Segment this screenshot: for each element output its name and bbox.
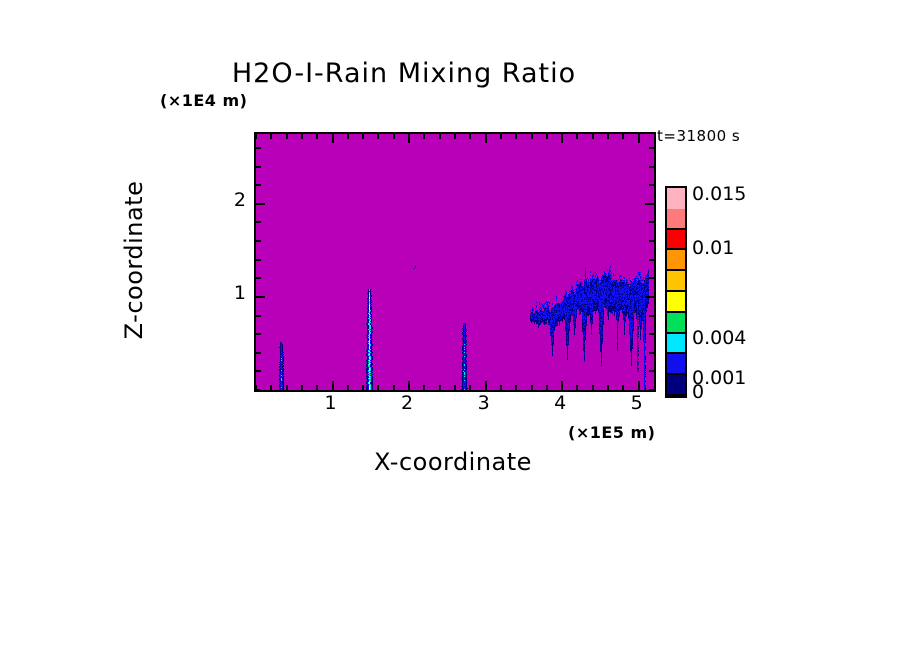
z-axis-tick xyxy=(256,352,261,354)
x-axis-tick xyxy=(301,134,303,139)
z-axis-tick-label: 1 xyxy=(206,282,246,304)
z-axis-tick xyxy=(256,389,261,391)
z-axis-tick xyxy=(256,370,261,372)
colorbar-band xyxy=(667,354,685,375)
x-axis-tick xyxy=(607,134,609,139)
z-axis-tick xyxy=(649,277,654,279)
colorbar-band xyxy=(667,334,685,355)
colorbar-tick-label: 0 xyxy=(692,381,704,403)
x-axis-tick xyxy=(469,134,471,139)
x-axis-tick xyxy=(576,134,578,139)
z-axis-tick xyxy=(649,184,654,186)
z-axis-tick xyxy=(645,203,654,205)
x-axis-tick xyxy=(638,381,640,390)
x-axis-tick xyxy=(454,134,456,139)
x-axis-tick xyxy=(301,385,303,390)
colorbar-tick-label: 0.004 xyxy=(692,327,746,349)
x-axis-tick xyxy=(332,134,334,143)
colorbar xyxy=(665,186,687,398)
z-axis-tick xyxy=(256,296,265,298)
x-axis-tick xyxy=(347,385,349,390)
x-axis-tick xyxy=(515,134,517,139)
z-axis-tick xyxy=(649,352,654,354)
x-axis-tick xyxy=(423,385,425,390)
z-axis-tick xyxy=(649,221,654,223)
x-axis-tick xyxy=(561,134,563,143)
x-axis-tick xyxy=(316,134,318,139)
x-axis-tick xyxy=(500,134,502,139)
z-axis-tick xyxy=(649,315,654,317)
z-axis-tick xyxy=(256,315,261,317)
x-axis-tick-label: 3 xyxy=(464,392,504,414)
z-axis-units-label: (×1E4 m) xyxy=(160,91,247,110)
x-axis-tick xyxy=(638,134,640,143)
x-axis-tick xyxy=(347,134,349,139)
z-axis-tick xyxy=(256,147,261,149)
x-axis-tick xyxy=(592,385,594,390)
z-axis-tick xyxy=(256,240,261,242)
x-axis-tick xyxy=(423,134,425,139)
x-axis-tick-label: 1 xyxy=(311,392,351,414)
x-axis-tick xyxy=(362,134,364,139)
x-axis-tick-label: 2 xyxy=(387,392,427,414)
x-axis-tick xyxy=(607,385,609,390)
z-axis-tick-label: 2 xyxy=(206,189,246,211)
x-axis-tick xyxy=(270,134,272,139)
x-axis-tick xyxy=(546,385,548,390)
x-axis-tick xyxy=(592,134,594,139)
x-axis-tick xyxy=(439,134,441,139)
z-axis-tick xyxy=(256,333,261,335)
colorbar-band xyxy=(667,292,685,313)
x-axis-tick xyxy=(316,385,318,390)
colorbar-band xyxy=(667,230,685,251)
x-axis-tick-label: 5 xyxy=(617,392,657,414)
z-axis-tick xyxy=(256,277,261,279)
z-axis-tick xyxy=(256,259,261,261)
x-axis-tick xyxy=(546,134,548,139)
x-axis-tick xyxy=(393,385,395,390)
x-axis-tick xyxy=(500,385,502,390)
colorbar-band xyxy=(667,188,685,209)
x-axis-tick xyxy=(515,385,517,390)
z-axis-tick xyxy=(649,147,654,149)
x-axis-tick xyxy=(561,381,563,390)
z-axis-tick xyxy=(256,203,265,205)
x-axis-tick xyxy=(531,385,533,390)
colorbar-tick-label: 0.015 xyxy=(692,183,746,205)
contour-field-canvas xyxy=(256,134,654,390)
z-axis-title: Z-coordinate xyxy=(120,135,148,385)
z-axis-tick xyxy=(649,259,654,261)
page-title: H2O-I-Rain Mixing Ratio xyxy=(0,58,904,89)
x-axis-tick xyxy=(439,385,441,390)
contour-plot-area xyxy=(254,132,656,392)
z-axis-tick xyxy=(256,166,261,168)
z-axis-tick xyxy=(256,184,261,186)
figure-canvas: H2O-I-Rain Mixing Ratio (×1E4 m) t=31800… xyxy=(0,0,904,654)
z-axis-tick xyxy=(649,333,654,335)
x-axis-tick xyxy=(622,385,624,390)
x-axis-tick xyxy=(485,134,487,143)
z-axis-tick xyxy=(649,240,654,242)
colorbar-band xyxy=(667,271,685,292)
x-axis-tick xyxy=(408,381,410,390)
z-axis-tick xyxy=(256,221,261,223)
x-axis-units-label: (×1E5 m) xyxy=(568,423,655,442)
colorbar-tick-label: 0.01 xyxy=(692,237,734,259)
z-axis-tick xyxy=(645,296,654,298)
time-stamp-label: t=31800 s xyxy=(657,127,740,145)
x-axis-tick xyxy=(377,385,379,390)
colorbar-band xyxy=(667,375,685,396)
x-axis-tick xyxy=(531,134,533,139)
x-axis-tick xyxy=(332,381,334,390)
x-axis-tick xyxy=(622,134,624,139)
x-axis-tick xyxy=(377,134,379,139)
x-axis-tick xyxy=(454,385,456,390)
x-axis-tick xyxy=(485,381,487,390)
x-axis-tick xyxy=(576,385,578,390)
colorbar-band xyxy=(667,250,685,271)
colorbar-band xyxy=(667,313,685,334)
x-axis-tick-label: 4 xyxy=(540,392,580,414)
x-axis-tick xyxy=(469,385,471,390)
x-axis-tick xyxy=(270,385,272,390)
colorbar-band xyxy=(667,209,685,230)
x-axis-tick xyxy=(286,385,288,390)
z-axis-tick xyxy=(649,166,654,168)
x-axis-title: X-coordinate xyxy=(254,448,652,476)
x-axis-tick xyxy=(255,134,257,139)
z-axis-tick xyxy=(649,370,654,372)
z-axis-tick xyxy=(649,389,654,391)
x-axis-tick xyxy=(408,134,410,143)
x-axis-tick xyxy=(393,134,395,139)
x-axis-tick xyxy=(362,385,364,390)
x-axis-tick xyxy=(286,134,288,139)
plot-title-text: H2O-I-Rain Mixing Ratio xyxy=(232,58,576,89)
